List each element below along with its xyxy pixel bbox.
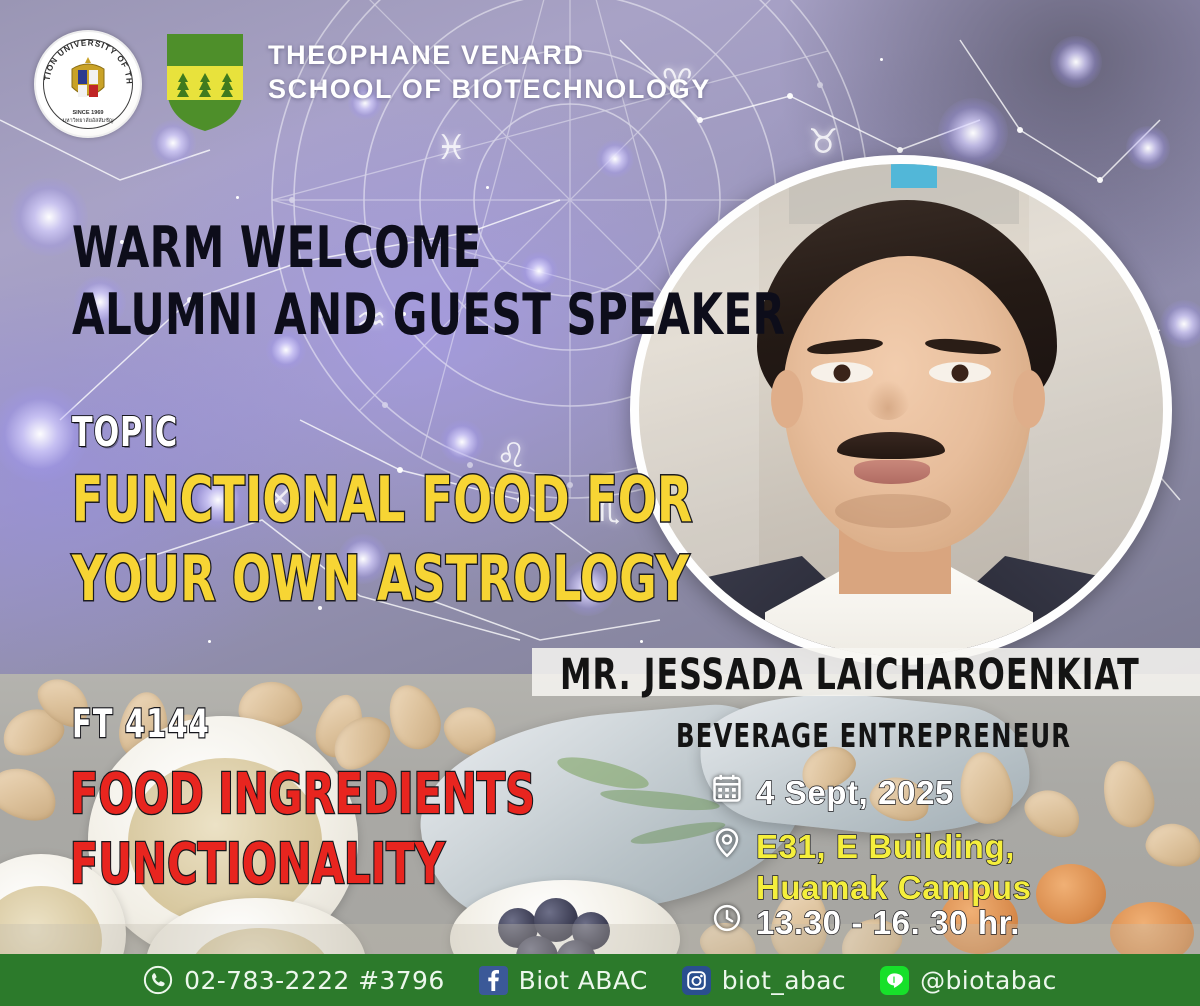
footer-phone[interactable]: 02-783-2222 #3796 — [143, 965, 445, 995]
mouth — [854, 460, 930, 484]
topic-title-line2: YOUR OWN ASTROLOGY — [72, 539, 693, 618]
topic-label: TOPIC — [72, 408, 178, 456]
header-title-line2: SCHOOL OF BIOTECHNOLOGY — [268, 72, 711, 106]
event-poster: ♓ ♈ ♉ ♒ ♌ ♐ ♏ — [0, 0, 1200, 1006]
facebook-icon — [479, 966, 508, 995]
university-seal-icon: ASSUMPTION UNIVERSITY OF THAILAND SINCE … — [34, 30, 142, 138]
footer-facebook[interactable]: Biot ABAC — [479, 966, 648, 995]
footer-line[interactable]: @biotabac — [880, 966, 1057, 995]
topic-title-line1: FUNCTIONAL FOOD FOR — [72, 460, 693, 539]
course-title-line2: FUNCTIONALITY — [70, 830, 535, 900]
seal-since-text: SINCE 1969 — [36, 110, 140, 116]
welcome-line-2: ALUMNI AND GUEST SPEAKER — [72, 282, 785, 349]
calendar-icon — [712, 772, 742, 804]
poster-header: ASSUMPTION UNIVERSITY OF THAILAND SINCE … — [0, 0, 1200, 130]
instagram-text: biot_abac — [722, 966, 846, 995]
phone-icon — [143, 965, 173, 995]
footer-instagram[interactable]: biot_abac — [682, 966, 846, 995]
detail-date: 4 Sept, 2025 — [712, 772, 954, 813]
svg-text:ASSUMPTION UNIVERSITY OF THAIL: ASSUMPTION UNIVERSITY OF THAILAND — [36, 32, 134, 85]
background-blue-strip — [891, 164, 937, 188]
phone-text: 02-783-2222 #3796 — [184, 966, 445, 995]
instagram-icon — [682, 966, 711, 995]
time-text: 13.30 - 16. 30 hr. — [756, 902, 1020, 943]
speaker-name: MR. JESSADA LAICHAROENKIAT — [560, 650, 1140, 700]
location-text: E31, E Building, Huamak Campus — [756, 826, 1032, 909]
seal-thai-text: มหาวิทยาลัยอัสสัมชัญ — [36, 117, 140, 125]
line-icon — [880, 966, 909, 995]
date-text: 4 Sept, 2025 — [756, 772, 954, 813]
facebook-text: Biot ABAC — [519, 966, 648, 995]
nose — [866, 380, 910, 420]
header-title-line1: THEOPHANE VENARD — [268, 38, 711, 72]
welcome-heading: WARM WELCOME ALUMNI AND GUEST SPEAKER — [72, 215, 785, 350]
contact-footer: 02-783-2222 #3796 Biot ABAC biot_abac — [0, 954, 1200, 1006]
location-line1: E31, E Building, — [756, 826, 1032, 867]
header-title: THEOPHANE VENARD SCHOOL OF BIOTECHNOLOGY — [268, 38, 711, 106]
welcome-line-1: WARM WELCOME — [72, 215, 785, 282]
course-title-line1: FOOD INGREDIENTS — [70, 760, 535, 830]
speaker-role: BEVERAGE ENTREPRENEUR — [676, 716, 1071, 755]
clock-icon — [712, 902, 742, 934]
topic-title: FUNCTIONAL FOOD FOR YOUR OWN ASTROLOGY — [72, 460, 693, 619]
map-pin-icon — [712, 826, 742, 858]
course-code: FT 4144 — [72, 702, 210, 747]
detail-time: 13.30 - 16. 30 hr. — [712, 902, 1020, 943]
biotechnology-shield-icon — [163, 30, 247, 134]
line-text: @biotabac — [920, 966, 1057, 995]
course-title: FOOD INGREDIENTS FUNCTIONALITY — [70, 760, 535, 900]
detail-location: E31, E Building, Huamak Campus — [712, 826, 1032, 909]
